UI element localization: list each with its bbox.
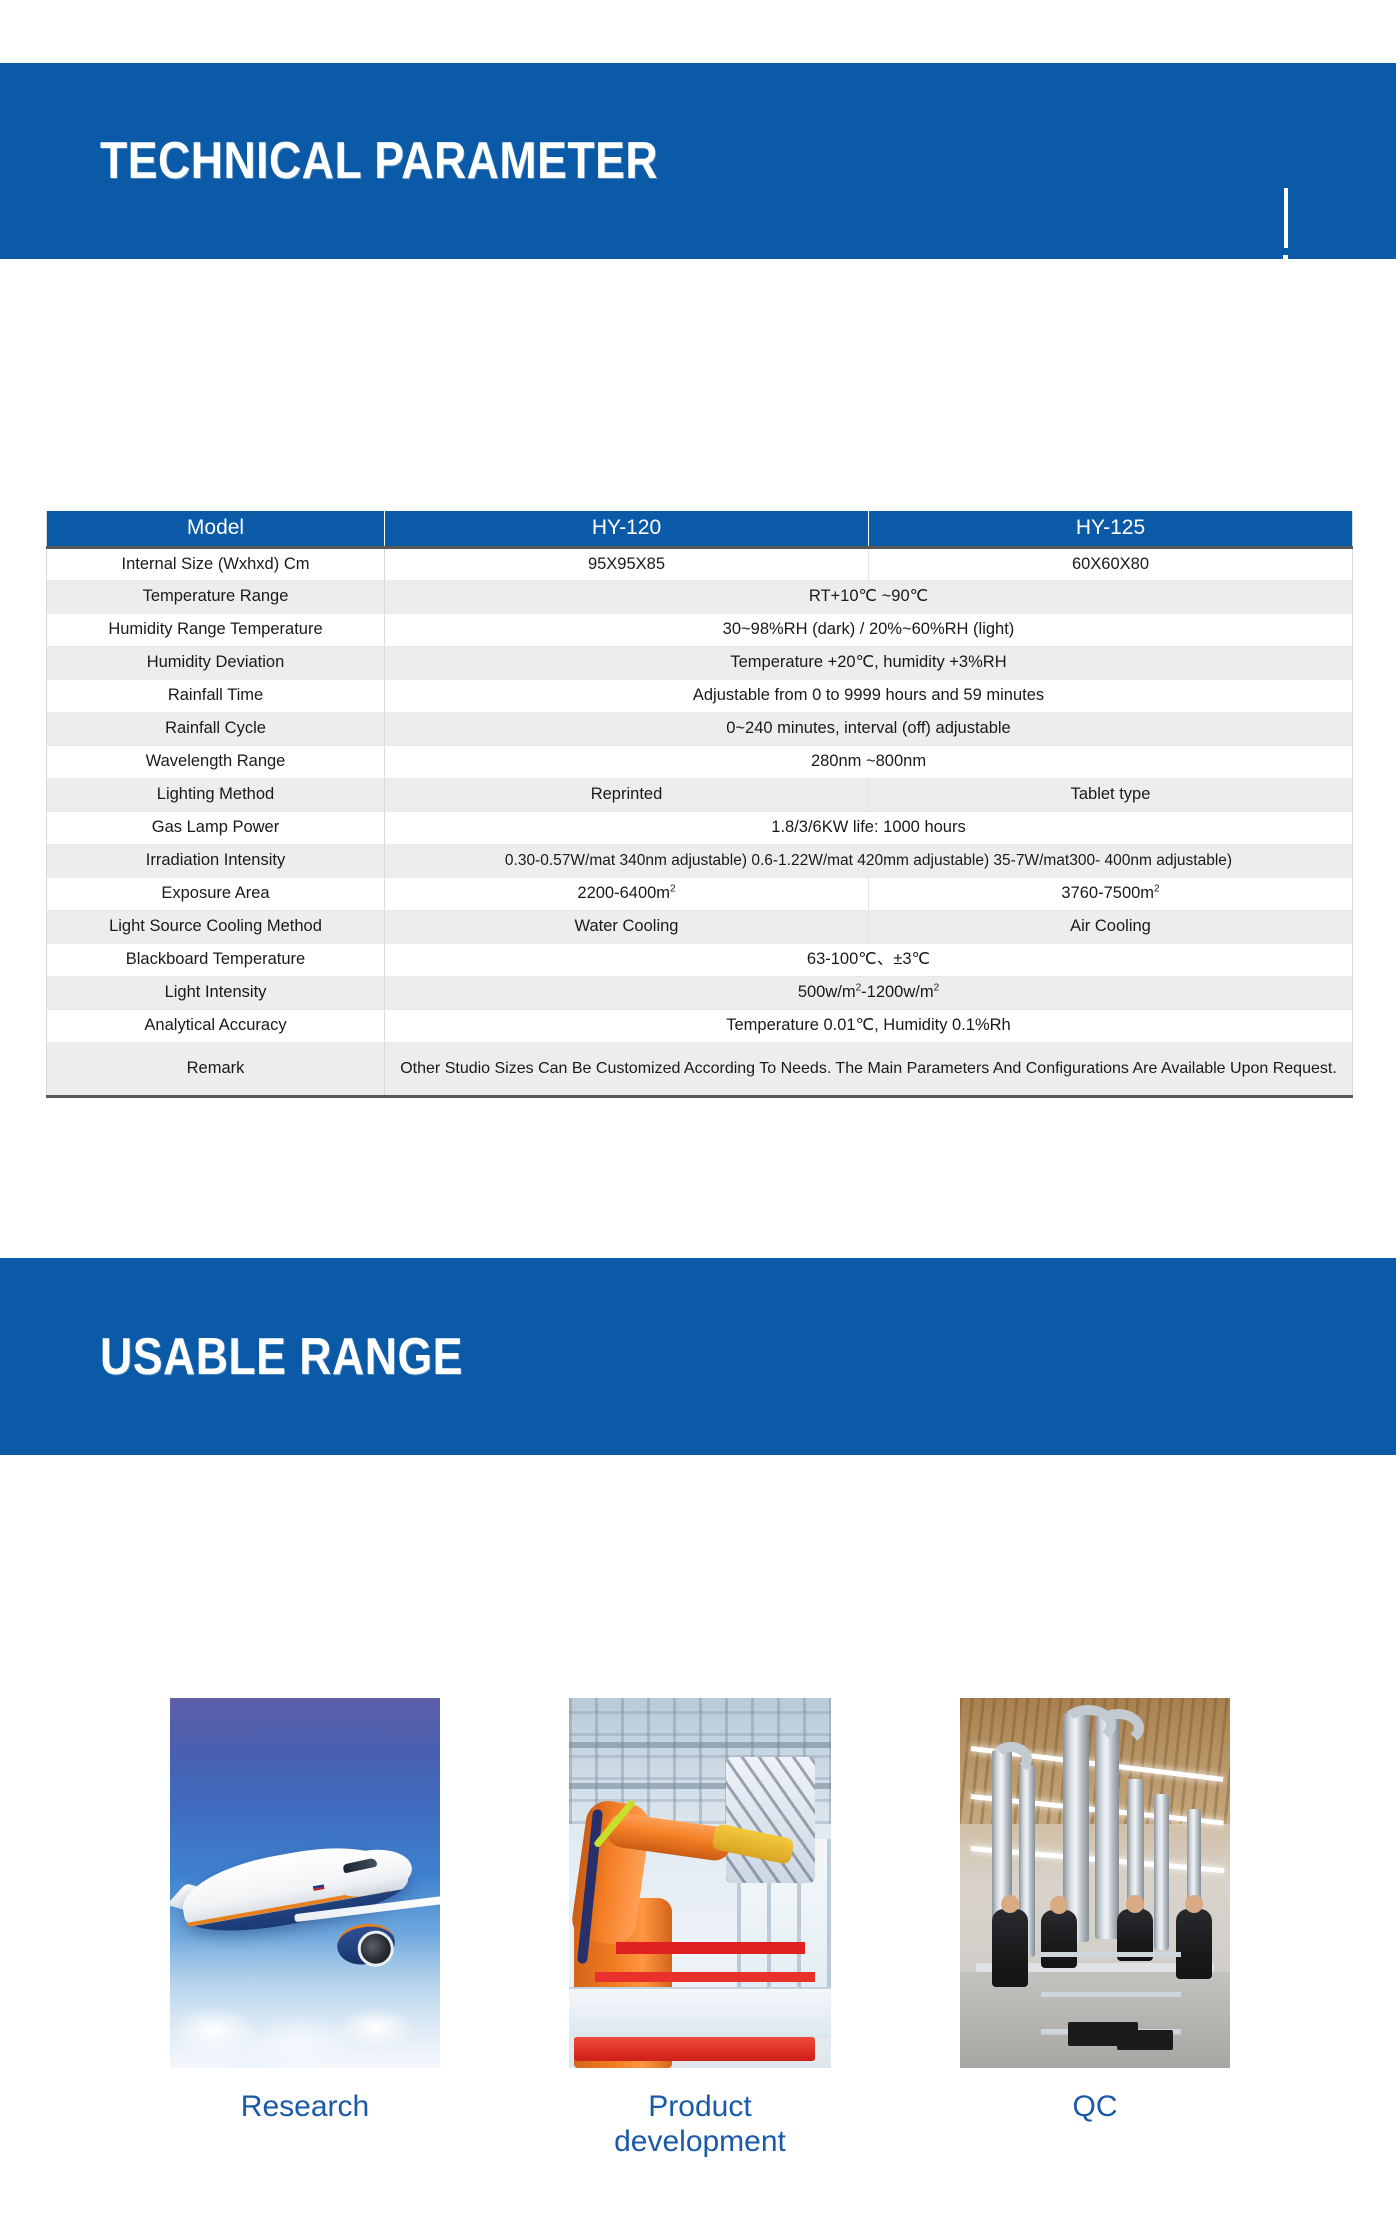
row-value-hy120: Reprinted [385,778,869,811]
row-value-shared: Other Studio Sizes Can Be Customized Acc… [385,1042,1353,1096]
row-label: Light Source Cooling Method [47,910,385,943]
row-value-hy125: Tablet type [869,778,1353,811]
product-spec-page: TECHNICAL PARAMETER Model HY-120 HY-125 … [0,0,1400,2219]
row-value-hy125: 60X60X80 [869,547,1353,580]
row-value-shared: Temperature 0.01℃, Humidity 0.1%Rh [385,1009,1353,1042]
factory-worker [992,1909,1028,1987]
row-label: Exposure Area [47,877,385,910]
row-value-hy120: Water Cooling [385,910,869,943]
row-value-shared: 0~240 minutes, interval (off) adjustable [385,712,1353,745]
row-label: Lighting Method [47,778,385,811]
usable-range-banner: USABLE RANGE [0,1258,1396,1455]
row-label: Rainfall Cycle [47,712,385,745]
gallery-item-product-development: Product development [565,1698,835,2159]
table-row: Temperature RangeRT+10℃ ~90℃ [47,580,1353,613]
usable-range-title: USABLE RANGE [100,1327,463,1387]
row-value-shared: 280nm ~800nm [385,745,1353,778]
row-label: Rainfall Time [47,679,385,712]
table-row: Light Source Cooling MethodWater Cooling… [47,910,1353,943]
table-row: Rainfall TimeAdjustable from 0 to 9999 h… [47,679,1353,712]
table-body: Internal Size (Wxhxd) Cm95X95X8560X60X80… [47,547,1353,1096]
table-row: Wavelength Range280nm ~800nm [47,745,1353,778]
row-label: Humidity Deviation [47,646,385,679]
table-row: Rainfall Cycle0~240 minutes, interval (o… [47,712,1353,745]
accent-dot [1283,255,1288,260]
row-value-shared: 30~98%RH (dark) / 20%~60%RH (light) [385,613,1353,646]
column-header-hy125: HY-125 [869,511,1353,547]
table-row: Internal Size (Wxhxd) Cm95X95X8560X60X80 [47,547,1353,580]
table-row: Humidity Range Temperature30~98%RH (dark… [47,613,1353,646]
table-row: Irradiation Intensity0.30-0.57W/mat 340n… [47,844,1353,877]
row-value-shared: 0.30-0.57W/mat 340nm adjustable) 0.6-1.2… [385,844,1353,877]
table-row: Lighting MethodReprintedTablet type [47,778,1353,811]
accent-bar [1284,188,1288,248]
spec-table-container: Model HY-120 HY-125 Internal Size (Wxhxd… [46,511,1352,1098]
duct-elbow [990,1742,1032,1776]
row-value-hy120: 95X95X85 [385,547,869,580]
row-value-hy125: Air Cooling [869,910,1353,943]
red-fixture-frame [595,1972,815,1982]
row-value-shared: RT+10℃ ~90℃ [385,580,1353,613]
gallery-item-research: Research [170,1698,440,2159]
column-header-hy120: HY-120 [385,511,869,547]
row-label: Wavelength Range [47,745,385,778]
factory-worker [1176,1909,1212,1979]
usable-range-gallery: Research Product development [0,1698,1400,2159]
column-header-model: Model [47,511,385,547]
row-value-shared: 63-100℃、±3℃ [385,943,1353,976]
row-value-shared: 1.8/3/6KW life: 1000 hours [385,811,1353,844]
technical-parameter-table: Model HY-120 HY-125 Internal Size (Wxhxd… [46,511,1353,1098]
row-label: Internal Size (Wxhxd) Cm [47,547,385,580]
row-label: Gas Lamp Power [47,811,385,844]
table-row: Light Intensity500w/m2-1200w/m2 [47,976,1353,1009]
row-label: Light Intensity [47,976,385,1009]
extraction-duct [1095,1717,1119,1939]
factory-quality-control-photo [960,1698,1230,2068]
airplane-in-sky-photo [170,1698,440,2068]
row-value-hy120: 2200-6400m2 [385,877,869,910]
row-value-shared: Adjustable from 0 to 9999 hours and 59 m… [385,679,1353,712]
red-fixture-frame [616,1942,805,1954]
technical-parameter-banner: TECHNICAL PARAMETER [0,63,1396,259]
row-value-shared: Temperature +20℃, humidity +3%RH [385,646,1353,679]
row-label: Analytical Accuracy [47,1009,385,1042]
assembly-table [569,1987,831,2039]
red-base-rail [574,2037,815,2061]
gallery-caption-product-development: Product development [565,2090,835,2159]
gallery-caption-research: Research [241,2090,369,2125]
gallery-caption-qc: QC [1073,2090,1118,2125]
row-label: Remark [47,1042,385,1096]
table-row: Humidity DeviationTemperature +20℃, humi… [47,646,1353,679]
row-value-shared: 500w/m2-1200w/m2 [385,976,1353,1009]
table-header-row: Model HY-120 HY-125 [47,511,1353,547]
table-row: Exposure Area2200-6400m23760-7500m2 [47,877,1353,910]
row-label: Blackboard Temperature [47,943,385,976]
storage-box [1117,2030,1173,2050]
ceiling-beam [569,1742,831,1748]
industrial-robot-arm-photo [569,1698,831,2068]
technical-parameter-title: TECHNICAL PARAMETER [100,131,658,191]
row-label: Temperature Range [47,580,385,613]
exclamation-accent-icon [1283,188,1288,260]
table-row: Analytical AccuracyTemperature 0.01℃, Hu… [47,1009,1353,1042]
table-row: RemarkOther Studio Sizes Can Be Customiz… [47,1042,1353,1096]
row-label: Humidity Range Temperature [47,613,385,646]
robot-gripper-tool [726,1757,815,1883]
table-row: Gas Lamp Power1.8/3/6KW life: 1000 hours [47,811,1353,844]
gallery-item-qc: QC [960,1698,1230,2159]
table-row: Blackboard Temperature63-100℃、±3℃ [47,943,1353,976]
row-value-hy125: 3760-7500m2 [869,877,1353,910]
row-label: Irradiation Intensity [47,844,385,877]
clouds [170,1935,440,2068]
